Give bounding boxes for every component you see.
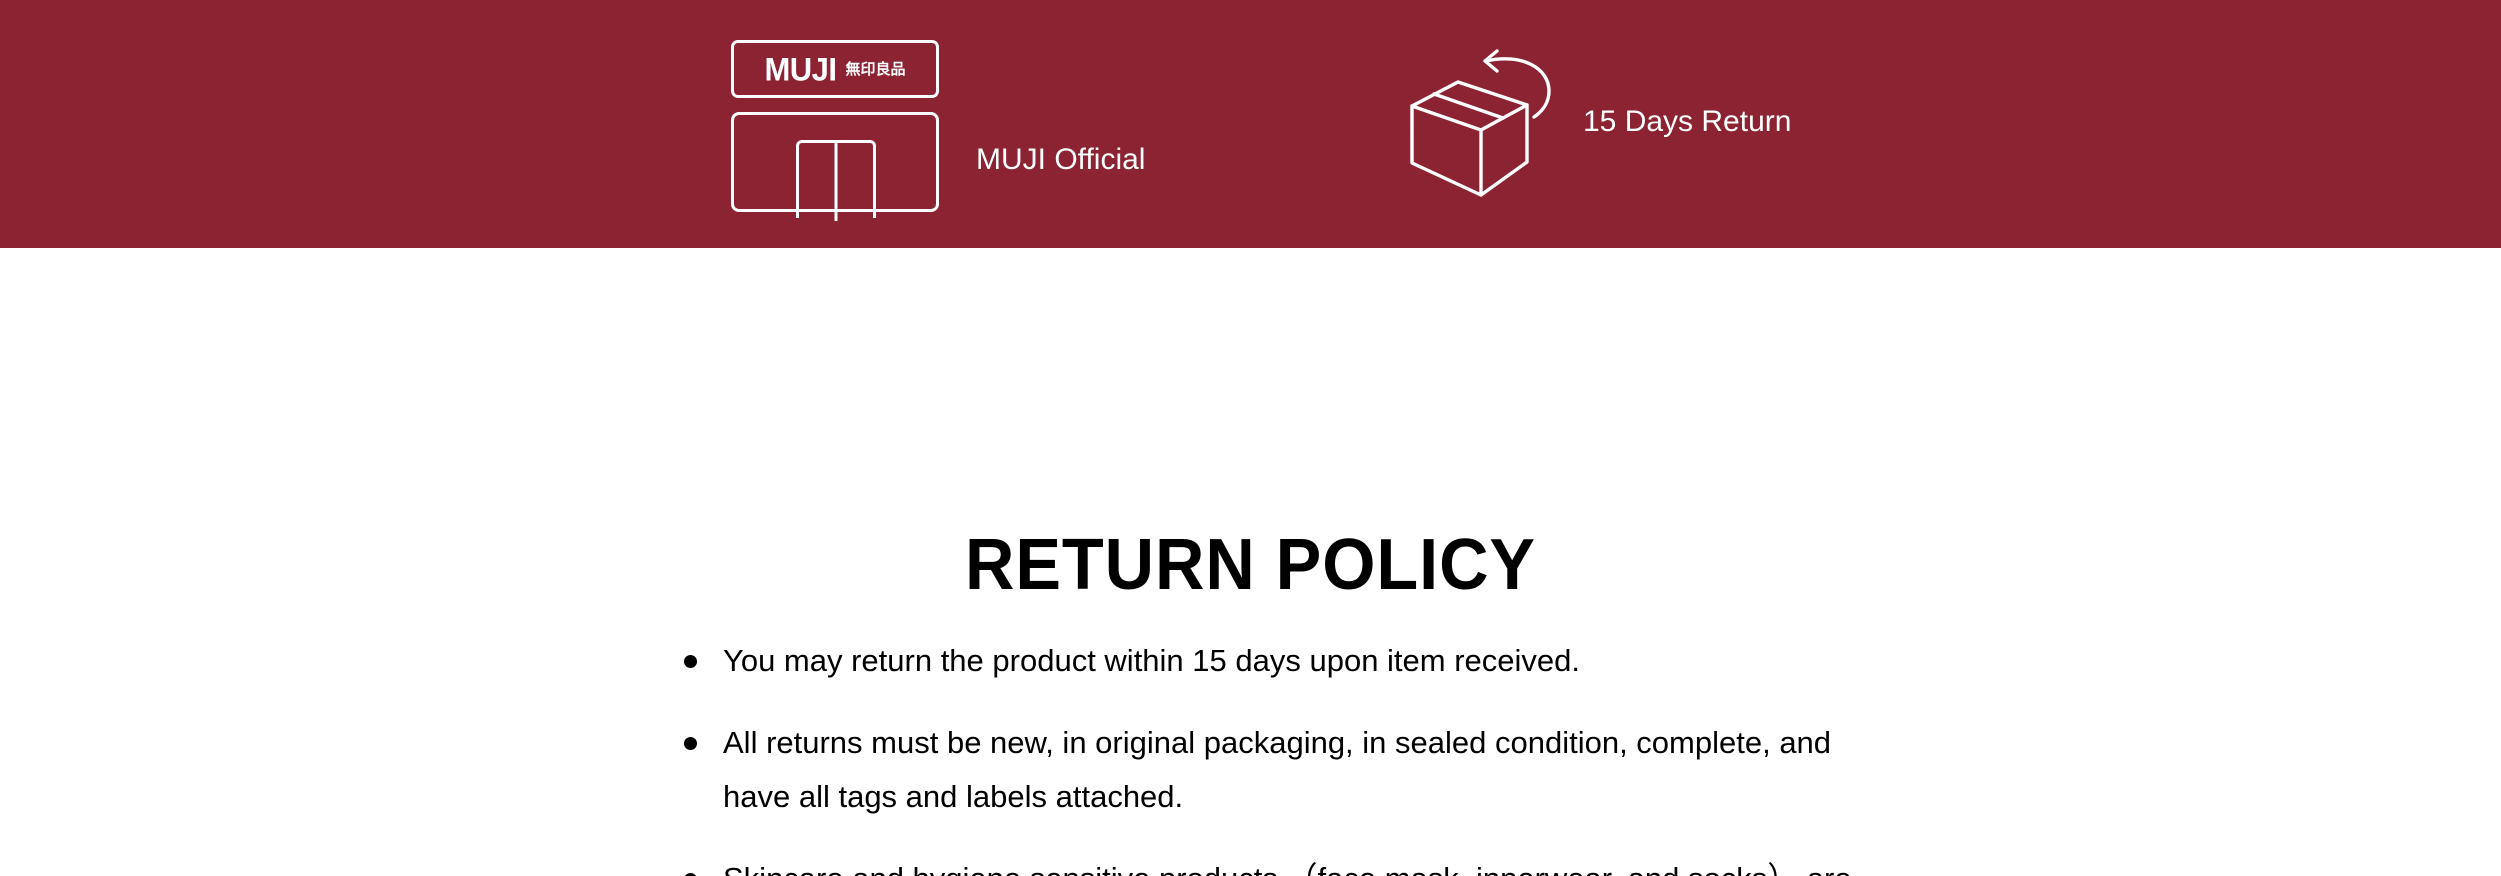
store-description-line-1: MUJI Official xyxy=(976,140,1185,179)
list-item: You may return the product within 15 day… xyxy=(680,634,1860,688)
bullet-icon xyxy=(684,655,697,668)
policy-content: RETURN POLICY You may return the product… xyxy=(0,248,2501,876)
return-box-icon xyxy=(1410,44,1570,199)
banner-inner: MUJI 無印良品 MUJI Official Flagship Store 1… xyxy=(0,0,2501,248)
list-item: Skincare and hygiene sensitive products … xyxy=(680,852,1860,876)
policy-list: You may return the product within 15 day… xyxy=(680,634,1860,876)
muji-wordmark-text: MUJI xyxy=(764,53,836,86)
storefront-door-shape xyxy=(796,140,876,218)
promo-banner: MUJI 無印良品 MUJI Official Flagship Store 1… xyxy=(0,0,2501,248)
storefront-body-shape xyxy=(731,112,939,212)
muji-signboard: MUJI 無印良品 xyxy=(731,40,939,98)
policy-item-text: You may return the product within 15 day… xyxy=(723,634,1860,688)
muji-storefront-icon: MUJI 無印良品 xyxy=(731,40,939,212)
page-title: RETURN POLICY xyxy=(63,525,2439,605)
return-policy-label: 15 Days Return xyxy=(1583,104,1791,140)
policy-item-text: Skincare and hygiene sensitive products … xyxy=(723,852,1860,876)
bullet-icon xyxy=(684,737,697,750)
storefront-door-divider xyxy=(835,143,838,221)
policy-item-text: All returns must be new, in original pac… xyxy=(723,716,1860,824)
muji-japanese-wordmark-text: 無印良品 xyxy=(846,62,906,77)
list-item: All returns must be new, in original pac… xyxy=(680,716,1860,824)
